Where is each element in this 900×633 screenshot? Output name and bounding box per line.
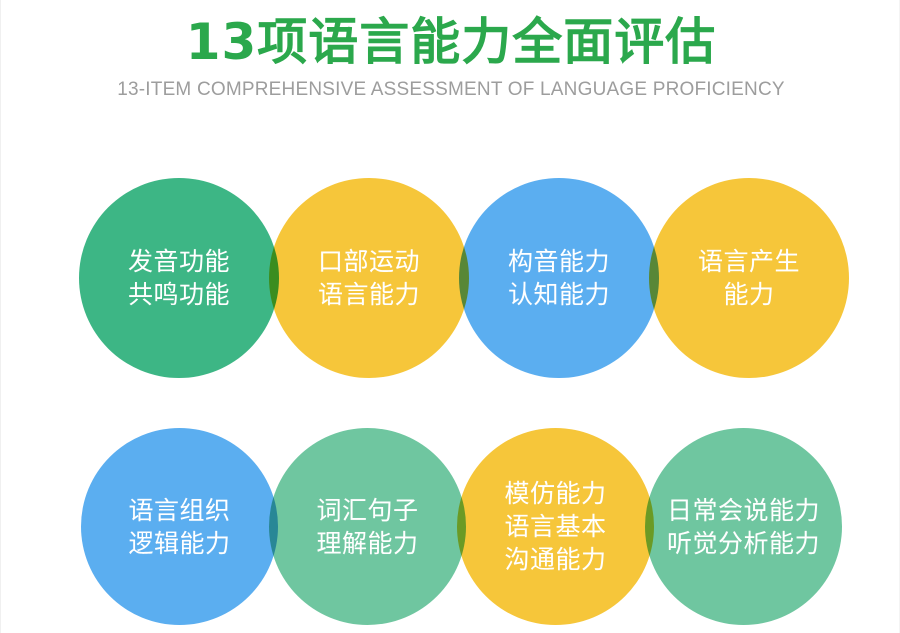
infographic-page: 13项语言能力全面评估 13-ITEM COMPREHENSIVE ASSESS… bbox=[0, 0, 900, 633]
capability-label: 模仿能力 语言基本 沟通能力 bbox=[504, 477, 606, 576]
capability-circle-grid: 发音功能 共鸣功能 口部运动 语言能力 构音能力 认知能力 语言产生 能力 语言… bbox=[1, 0, 900, 633]
capability-label: 日常会说能力 听觉分析能力 bbox=[667, 494, 820, 560]
capability-circle-8[interactable]: 日常会说能力 听觉分析能力 bbox=[645, 428, 842, 625]
capability-circle-4[interactable]: 语言产生 能力 bbox=[649, 178, 849, 378]
capability-label: 语言组织 逻辑能力 bbox=[128, 494, 230, 560]
capability-label: 口部运动 语言能力 bbox=[318, 245, 420, 311]
capability-circle-3[interactable]: 构音能力 认知能力 bbox=[459, 178, 659, 378]
capability-circle-2[interactable]: 口部运动 语言能力 bbox=[269, 178, 469, 378]
capability-label: 语言产生 能力 bbox=[698, 245, 800, 311]
capability-circle-1[interactable]: 发音功能 共鸣功能 bbox=[79, 178, 279, 378]
capability-label: 词汇句子 理解能力 bbox=[316, 494, 418, 560]
capability-label: 构音能力 认知能力 bbox=[508, 245, 610, 311]
capability-label: 发音功能 共鸣功能 bbox=[128, 245, 230, 311]
capability-circle-6[interactable]: 词汇句子 理解能力 bbox=[269, 428, 466, 625]
capability-circle-7[interactable]: 模仿能力 语言基本 沟通能力 bbox=[457, 428, 654, 625]
capability-circle-5[interactable]: 语言组织 逻辑能力 bbox=[81, 428, 278, 625]
